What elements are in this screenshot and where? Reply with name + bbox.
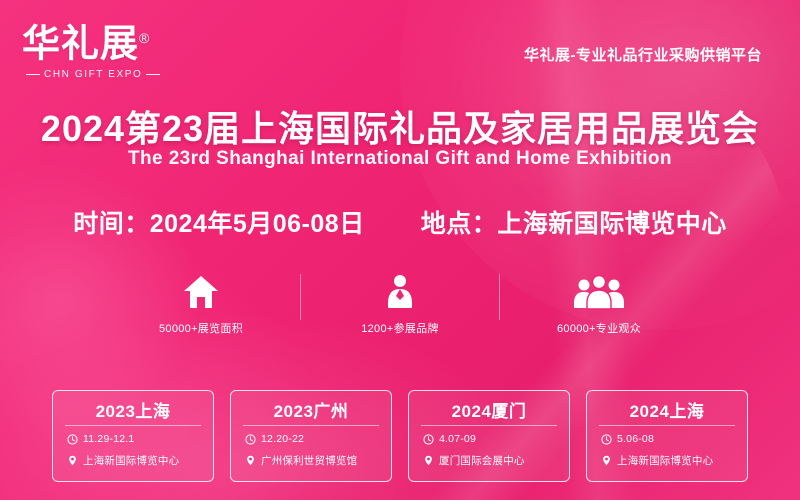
clock-icon <box>67 434 78 445</box>
event-info-line: 时间：2024年5月06-08日 地点：上海新国际博览中心 <box>0 204 800 240</box>
page-title-chinese: 2024第23届上海国际礼品及家居用品展览会 <box>0 100 800 152</box>
event-date: 时间：2024年5月06-08日 <box>73 204 364 240</box>
logo-wordmark: 华礼展® <box>22 16 192 67</box>
stats-divider-1 <box>300 274 301 320</box>
home-icon <box>118 268 284 312</box>
edition-date-row: 4.07-09 <box>423 433 476 445</box>
person-icon <box>317 268 483 312</box>
location-pin-icon <box>423 455 434 466</box>
page-title-english: The 23rd Shanghai International Gift and… <box>0 148 800 170</box>
event-venue: 地点：上海新国际博览中心 <box>421 204 727 240</box>
clock-icon <box>423 434 434 445</box>
event-date-value: 2024年5月06-08日 <box>150 210 365 238</box>
edition-date-row: 5.06-08 <box>601 433 654 445</box>
brand-logo: 华礼展® CHN GIFT EXPO <box>22 16 192 78</box>
logo-subtitle: CHN GIFT EXPO <box>22 69 192 80</box>
edition-date-row: 12.20-22 <box>245 433 304 445</box>
edition-venue-row: 广州保利世贸博览馆 <box>245 453 357 468</box>
event-date-label: 时间： <box>73 210 150 238</box>
stat-label: 50000+展览面积 <box>118 320 284 336</box>
clock-icon <box>245 434 256 445</box>
stat-exhibition-area: 50000+展览面积 <box>118 268 284 336</box>
past-editions-cards: 2023上海 11.29-12.1 上海新国际博览中心 2023广州 12.20… <box>0 390 800 482</box>
stat-brands: 1200+参展品牌 <box>317 268 483 336</box>
card-divider <box>243 425 379 426</box>
stat-label: 1200+参展品牌 <box>317 320 483 336</box>
edition-venue: 上海新国际博览中心 <box>617 453 713 468</box>
edition-venue-row: 上海新国际博览中心 <box>67 453 179 468</box>
poster-header: 华礼展® CHN GIFT EXPO 华礼展-专业礼品行业采购供销平台 <box>0 0 800 92</box>
stats-row: 50000+展览面积 1200+参展品牌 <box>0 268 800 336</box>
card-divider <box>421 425 557 426</box>
edition-date: 4.07-09 <box>439 433 476 445</box>
edition-card[interactable]: 2024上海 5.06-08 上海新国际博览中心 <box>586 390 748 482</box>
logo-dash-left <box>26 74 40 75</box>
logo-main-text: 华礼展 <box>22 24 139 66</box>
edition-venue: 上海新国际博览中心 <box>83 453 179 468</box>
people-group-icon <box>516 268 682 312</box>
event-venue-value: 上海新国际博览中心 <box>497 210 727 238</box>
edition-city: 2024厦门 <box>409 397 569 422</box>
card-divider <box>65 425 201 426</box>
edition-card[interactable]: 2024厦门 4.07-09 厦门国际会展中心 <box>408 390 570 482</box>
stat-label: 60000+专业观众 <box>516 320 682 336</box>
event-venue-label: 地点： <box>421 210 498 238</box>
edition-city: 2023广州 <box>231 397 391 422</box>
edition-city: 2023上海 <box>53 397 213 422</box>
location-pin-icon <box>601 455 612 466</box>
logo-dash-right <box>146 74 160 75</box>
edition-city: 2024上海 <box>587 397 747 422</box>
clock-icon <box>601 434 612 445</box>
edition-card[interactable]: 2023上海 11.29-12.1 上海新国际博览中心 <box>52 390 214 482</box>
header-slogan: 华礼展-专业礼品行业采购供销平台 <box>524 44 762 65</box>
edition-venue-row: 上海新国际博览中心 <box>601 453 713 468</box>
edition-venue: 厦门国际会展中心 <box>439 453 525 468</box>
card-divider <box>599 425 735 426</box>
stats-divider-2 <box>499 274 500 320</box>
exhibition-poster: 华礼展® CHN GIFT EXPO 华礼展-专业礼品行业采购供销平台 2024… <box>0 0 800 500</box>
location-pin-icon <box>245 455 256 466</box>
logo-subtitle-text: CHN GIFT EXPO <box>44 69 142 80</box>
registered-trademark-icon: ® <box>139 30 150 46</box>
edition-date-row: 11.29-12.1 <box>67 433 134 445</box>
edition-date: 12.20-22 <box>261 433 304 445</box>
edition-venue: 广州保利世贸博览馆 <box>261 453 357 468</box>
stat-visitors: 60000+专业观众 <box>516 268 682 336</box>
location-pin-icon <box>67 455 78 466</box>
edition-date: 5.06-08 <box>617 433 654 445</box>
edition-date: 11.29-12.1 <box>83 433 134 445</box>
edition-venue-row: 厦门国际会展中心 <box>423 453 525 468</box>
edition-card[interactable]: 2023广州 12.20-22 广州保利世贸博览馆 <box>230 390 392 482</box>
